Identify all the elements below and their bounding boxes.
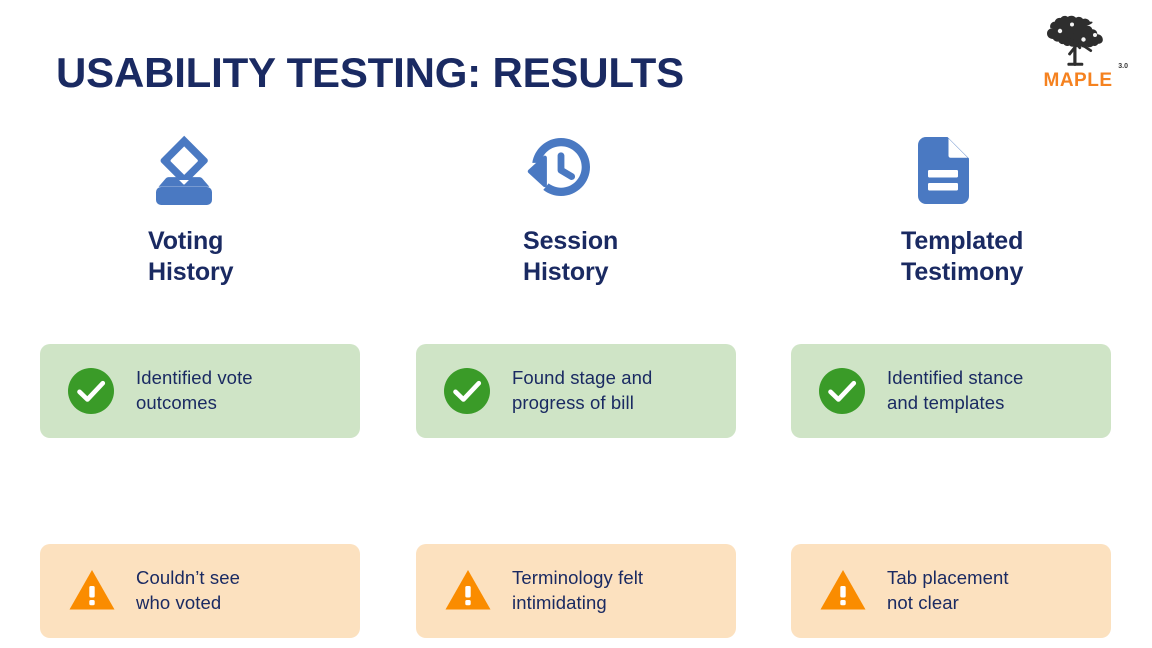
logo-version-label: 3.0 <box>1118 63 1128 70</box>
heading-line-2: History <box>523 258 608 286</box>
maple-tree-icon <box>1039 14 1117 70</box>
feature-column-heading: Templated Testimony <box>791 226 1116 287</box>
success-card-text: Identified stance and templates <box>887 366 1023 415</box>
warning-triangle-icon <box>444 568 490 614</box>
logo-wordmark: MAPLE <box>1026 71 1130 90</box>
card-text-line-1: Couldn’t see <box>136 567 240 588</box>
card-text-line-2: outcomes <box>136 392 217 413</box>
feature-column-heading: Voting History <box>40 226 365 287</box>
maple-logo: 3.0 MAPLE <box>1026 14 1130 90</box>
feature-column-templated-testimony: Templated Testimony <box>791 120 1116 287</box>
warning-card-text: Couldn’t see who voted <box>136 566 240 615</box>
warning-triangle-icon <box>68 568 114 614</box>
card-text-line-2: intimidating <box>512 592 607 613</box>
heading-line-2: History <box>148 258 233 286</box>
check-circle-icon <box>444 368 490 414</box>
success-card: Found stage and progress of bill <box>416 344 736 438</box>
warning-card: Couldn’t see who voted <box>40 544 360 638</box>
feature-column-session-history: Session History <box>415 120 740 287</box>
page-title: Usability Testing: Results <box>56 49 684 97</box>
heading-line-1: Voting <box>148 227 223 255</box>
card-text-line-1: Tab placement <box>887 567 1009 588</box>
card-text-line-1: Identified stance <box>887 367 1023 388</box>
success-card: Identified stance and templates <box>791 344 1111 438</box>
feature-column-voting-history: Voting History <box>40 120 365 287</box>
document-icon <box>791 120 1116 208</box>
card-text-line-1: Identified vote <box>136 367 253 388</box>
success-card: Identified vote outcomes <box>40 344 360 438</box>
success-card-text: Identified vote outcomes <box>136 366 253 415</box>
feature-column-heading: Session History <box>415 226 740 287</box>
ballot-box-icon <box>40 120 365 208</box>
success-card-text: Found stage and progress of bill <box>512 366 652 415</box>
check-circle-icon <box>819 368 865 414</box>
warning-card: Terminology felt intimidating <box>416 544 736 638</box>
card-text-line-2: progress of bill <box>512 392 634 413</box>
card-text-line-1: Found stage and <box>512 367 652 388</box>
warning-card-text: Terminology felt intimidating <box>512 566 643 615</box>
heading-line-1: Session <box>523 227 618 255</box>
heading-line-1: Templated <box>901 227 1023 255</box>
warning-card-text: Tab placement not clear <box>887 566 1009 615</box>
check-circle-icon <box>68 368 114 414</box>
warning-card: Tab placement not clear <box>791 544 1111 638</box>
card-text-line-2: and templates <box>887 392 1005 413</box>
card-text-line-2: not clear <box>887 592 959 613</box>
heading-line-2: Testimony <box>901 258 1023 286</box>
card-text-line-1: Terminology felt <box>512 567 643 588</box>
history-clock-icon <box>415 120 740 208</box>
card-text-line-2: who voted <box>136 592 221 613</box>
warning-triangle-icon <box>819 568 865 614</box>
